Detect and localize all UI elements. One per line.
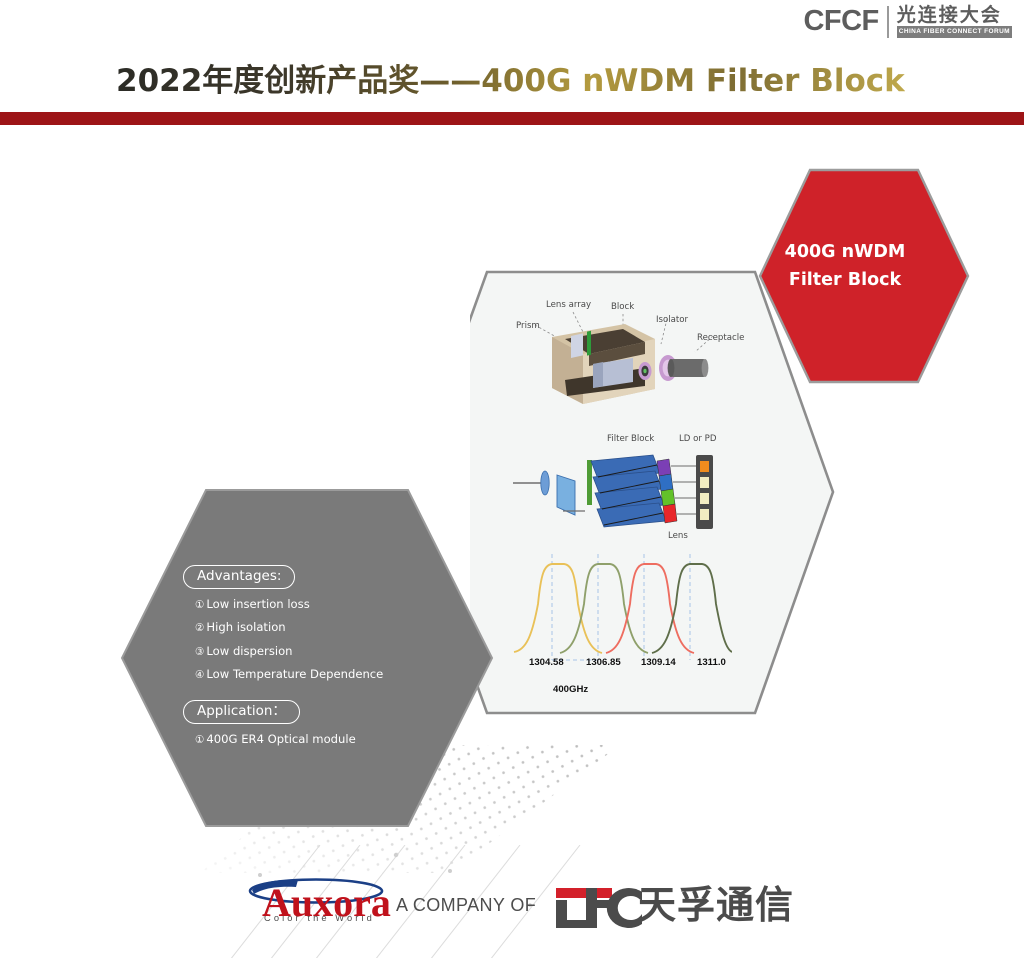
advantage-text: Low insertion loss [206,597,309,611]
chart-tick-3: 1311.0 [697,657,726,668]
cfcf-english-name: CHINA FIBER CONNECT FORUM [897,26,1012,38]
optical-path-diagram [505,443,740,543]
label-prism: Prism [516,321,540,331]
advantage-item: ④Low Temperature Dependence [195,667,483,682]
advantage-number: ② [195,622,204,634]
label-lens: Lens [668,531,688,541]
label-lens-array: Lens array [546,300,591,310]
cfcf-chinese-name: 光连接大会 [897,6,1012,25]
advantage-number: ③ [195,646,204,658]
info-hexagon-content: Advantages: ①Low insertion loss ②High is… [183,565,483,747]
advantage-item: ③Low dispersion [195,644,483,659]
spacer [183,683,483,700]
chart-tick-0: 1304.58 [529,657,564,668]
label-filter-block: Filter Block [607,434,654,444]
badge-line-1: 400G nWDM [760,238,930,266]
advantage-item: ①Low insertion loss [195,597,483,612]
label-receptacle: Receptacle [697,333,744,343]
header-red-divider [0,112,1024,125]
cfcf-logo: CFCF 光连接大会 CHINA FIBER CONNECT FORUM [803,6,1012,38]
advantages-heading: Advantages: [183,565,295,589]
series-ch4 [652,564,732,653]
label-ld-or-pd: LD or PD [679,434,716,444]
auxora-logo: Auxora [246,874,396,932]
chart-spacing-label: 400GHz [553,684,588,695]
application-number: ① [195,734,204,746]
cfcf-wordmark: CFCF [803,7,878,36]
chart-series-paths [514,564,732,653]
application-item: ①400G ER4 Optical module [195,732,483,747]
advantage-text: Low dispersion [206,644,292,658]
product-badge-label: 400G nWDM Filter Block [760,238,930,295]
advantage-number: ④ [195,669,204,681]
advantage-text: Low Temperature Dependence [206,667,383,681]
page-title: 2022年度创新产品奖——400G nWDM Filter Block [116,55,905,100]
spectrum-chart [512,552,732,662]
advantage-text: High isolation [206,620,285,634]
chart-tick-2: 1309.14 [641,657,676,668]
label-isolator: Isolator [656,315,688,325]
application-heading: Application： [183,700,300,724]
label-block: Block [611,302,634,312]
chart-tick-1: 1306.85 [586,657,621,668]
application-text: 400G ER4 Optical module [206,732,355,746]
tfc-chinese-name: 天孚通信 [638,886,794,924]
company-of-text: A COMPANY OF [396,895,536,916]
tfc-logo-mark [546,886,646,936]
cfcf-logo-right: 光连接大会 CHINA FIBER CONNECT FORUM [887,6,1012,38]
advantage-item: ②High isolation [195,620,483,635]
slide-root: CFCF 光连接大会 CHINA FIBER CONNECT FORUM 202… [0,0,1024,958]
badge-line-2: Filter Block [760,266,930,294]
advantage-number: ① [195,599,204,611]
auxora-wordmark: Auxora [262,880,391,925]
